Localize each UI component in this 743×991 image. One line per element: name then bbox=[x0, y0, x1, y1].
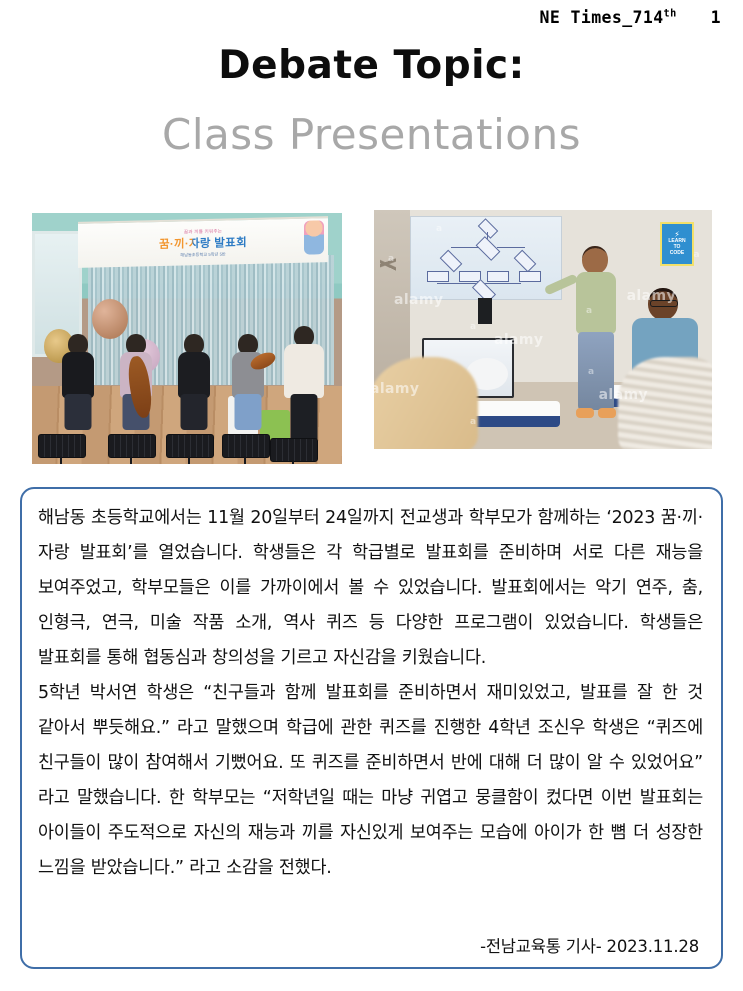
page-title: Debate Topic: bbox=[0, 46, 743, 87]
photo1-music-stand-4 bbox=[222, 434, 268, 458]
photo1-music-stand-1 bbox=[38, 434, 84, 458]
photo2-flowchart-node-c bbox=[487, 271, 509, 282]
photo2-flowchart-line-3 bbox=[497, 247, 525, 248]
photo2-foreground-person-left bbox=[374, 357, 478, 449]
poster-line-3: CODE bbox=[670, 251, 684, 257]
photo2-flowchart-node-decision-3 bbox=[514, 250, 537, 273]
article-box: 해남동 초등학교에서는 11월 20일부터 24일까지 전교생과 학부모가 함께… bbox=[20, 487, 723, 969]
learn-to-code-poster-inner: ⚡ LEARN TO CODE bbox=[662, 224, 692, 264]
masthead-ordinal-suffix: th bbox=[664, 9, 677, 20]
photo1-music-stand-1-desk bbox=[38, 434, 86, 458]
photo1-music-stand-2-desk bbox=[108, 434, 156, 458]
photo2-foreground-person-right bbox=[618, 357, 712, 449]
photo1-balloon-bronze bbox=[92, 299, 128, 339]
photo-row: 꿈과 끼를 키워주는 꿈·끼·자랑 발표회 해남동초등학교 5학년 5반 bbox=[32, 210, 712, 465]
page-number: 1 bbox=[711, 8, 721, 27]
photo1-student-4-legs bbox=[235, 394, 262, 430]
photo2-presenting-student-torso bbox=[576, 272, 616, 334]
photo1-student-5-legs bbox=[291, 394, 318, 444]
photo1-student-1-legs bbox=[65, 394, 92, 430]
photo2-flowchart-node-d bbox=[519, 271, 541, 282]
masthead: NE Times_714th bbox=[540, 8, 677, 27]
photo2-flowchart-node-start bbox=[478, 218, 499, 239]
article-paragraph-1: 해남동 초등학교에서는 11월 20일부터 24일까지 전교생과 학부모가 함께… bbox=[38, 501, 703, 676]
article-paragraph-2: 5학년 박서연 학생은 “친구들과 함께 발표회를 준비하면서 재미있었고, 발… bbox=[38, 676, 703, 886]
photo2-flowchart-node-a bbox=[427, 271, 449, 282]
photo2-presenting-student-shoe-left bbox=[576, 408, 594, 418]
photo1-music-stand-4-desk bbox=[222, 434, 270, 458]
photo1-banner-main-text: 꿈·끼·자랑 발표회 bbox=[159, 234, 247, 252]
photo2-presenting-student-head bbox=[582, 246, 608, 274]
photo1-music-stand-2 bbox=[108, 434, 154, 458]
photo1-music-stand-1-pole bbox=[60, 456, 62, 464]
photo2-flowchart-node-decision-1 bbox=[476, 236, 501, 261]
photo1-student-1-torso bbox=[62, 352, 94, 398]
photo1-music-stand-5-desk bbox=[270, 438, 318, 462]
photo2-presenting-student-shoe-right bbox=[598, 408, 616, 418]
photo1-music-stand-5 bbox=[270, 438, 316, 462]
photo1-banner-sub-text: 해남동초등학교 5학년 5반 bbox=[180, 251, 226, 258]
photo1-student-3-torso bbox=[178, 352, 210, 398]
classroom-presentation-photo: ⚡ LEARN TO CODE alamy alamy alamy bbox=[374, 210, 712, 449]
photo2-screen-stand bbox=[478, 298, 492, 324]
glasses-icon bbox=[650, 300, 678, 307]
photo1-student-5 bbox=[284, 326, 324, 444]
photo1-music-stand-3 bbox=[166, 434, 212, 458]
photo2-flowchart-node-decision-2 bbox=[440, 250, 463, 273]
photo1-student-3-legs bbox=[181, 394, 208, 430]
photo1-music-stand-4-pole bbox=[244, 456, 246, 464]
learn-to-code-poster: ⚡ LEARN TO CODE bbox=[660, 222, 694, 266]
masthead-text: NE Times_714 bbox=[540, 8, 664, 27]
photo1-banner-kid-illustration bbox=[304, 220, 324, 254]
photo1-student-4 bbox=[228, 334, 268, 430]
page-header: NE Times_714th 1 bbox=[540, 8, 721, 27]
page-subtitle: Class Presentations bbox=[0, 113, 743, 157]
photo2-projection-screen bbox=[410, 216, 562, 300]
photo1-student-3 bbox=[174, 334, 214, 430]
photo1-student-1 bbox=[58, 334, 98, 430]
photo2-presenting-student-jeans bbox=[578, 332, 614, 410]
photo1-student-5-torso bbox=[284, 344, 324, 398]
article-byline: -전남교육통 기사- 2023.11.28 bbox=[480, 933, 699, 957]
photo1-music-stand-3-pole bbox=[188, 456, 190, 464]
title-block: Debate Topic: Class Presentations bbox=[0, 46, 743, 157]
photo1-music-stand-3-desk bbox=[166, 434, 214, 458]
photo1-banner: 꿈과 끼를 키워주는 꿈·끼·자랑 발표회 해남동초등학교 5학년 5반 bbox=[78, 216, 328, 268]
photo1-music-stand-5-pole bbox=[292, 460, 294, 464]
photo2-flowchart-line-2 bbox=[451, 247, 479, 248]
article-body: 해남동 초등학교에서는 11월 20일부터 24일까지 전교생과 학부모가 함께… bbox=[38, 501, 703, 886]
photo1-music-stand-2-pole bbox=[130, 456, 132, 464]
photo2-presenting-student bbox=[570, 246, 622, 432]
school-recital-photo: 꿈과 끼를 키워주는 꿈·끼·자랑 발표회 해남동초등학교 5학년 5반 bbox=[32, 213, 342, 464]
